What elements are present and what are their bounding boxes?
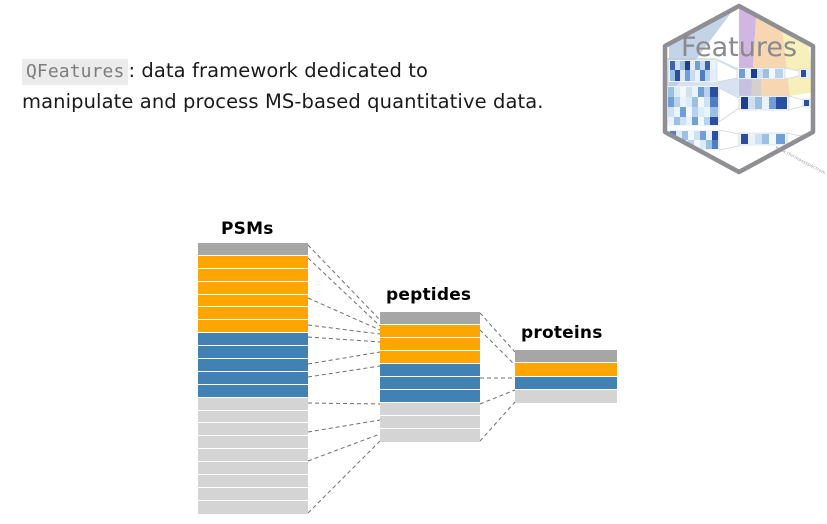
stack-row-gray <box>198 398 308 411</box>
caption-peptides: peptides <box>386 285 471 305</box>
connector-psms-to-peptides <box>308 420 380 432</box>
connector-psms-to-peptides <box>308 434 380 461</box>
connector-psms-to-peptides <box>308 366 380 377</box>
stack-row-blue <box>515 377 617 390</box>
connector-psms-to-peptides <box>308 337 380 342</box>
stack-row-header <box>198 243 308 256</box>
caption-proteins: proteins <box>521 323 603 343</box>
stack-row-blue <box>380 364 480 377</box>
stack-row-gray <box>198 423 308 436</box>
connector-psms-to-peptides <box>308 325 380 334</box>
stack-row-gray <box>198 475 308 488</box>
stack-proteins[interactable] <box>515 350 617 403</box>
aggregation-diagram: PSMspeptidesproteins <box>0 0 827 524</box>
stack-psms[interactable] <box>198 243 308 514</box>
connector-psms-to-peptides <box>308 245 380 320</box>
connector-psms-to-peptides <box>308 258 380 326</box>
stack-row-blue <box>380 377 480 390</box>
stack-row-blue <box>198 372 308 385</box>
stack-row-orange <box>198 269 308 282</box>
stack-row-gray <box>198 449 308 462</box>
stack-row-blue <box>198 359 308 372</box>
stack-row-blue <box>198 333 308 346</box>
stack-row-blue <box>198 385 308 398</box>
caption-psms: PSMs <box>221 219 274 239</box>
stack-row-orange <box>198 282 308 295</box>
stack-row-gray <box>380 403 480 416</box>
stack-row-gray <box>198 488 308 501</box>
connector-lines <box>0 0 827 524</box>
stack-row-orange <box>198 307 308 320</box>
connector-peptides-to-proteins <box>480 313 515 352</box>
stack-row-orange <box>380 351 480 364</box>
stack-row-gray <box>380 429 480 442</box>
stack-row-orange <box>515 363 617 376</box>
stack-row-header <box>515 350 617 363</box>
connector-peptides-to-proteins <box>480 330 515 365</box>
slide-canvas: QFeatures: data framework dedicated to m… <box>0 0 827 524</box>
stack-row-blue <box>198 346 308 359</box>
stack-row-orange <box>198 295 308 308</box>
connector-psms-to-peptides <box>308 441 380 513</box>
connector-peptides-to-proteins <box>480 390 515 404</box>
connector-psms-to-peptides <box>308 298 380 330</box>
connector-psms-to-peptides <box>308 352 380 364</box>
stack-peptides[interactable] <box>380 312 480 442</box>
stack-row-gray <box>198 436 308 449</box>
stack-row-header <box>380 312 480 325</box>
stack-row-gray <box>515 390 617 403</box>
connector-psms-to-peptides <box>308 403 380 404</box>
stack-row-orange <box>380 338 480 351</box>
stack-row-gray <box>380 416 480 429</box>
connector-peptides-to-proteins <box>480 402 515 441</box>
stack-row-gray <box>198 411 308 424</box>
stack-row-orange <box>198 320 308 333</box>
stack-row-gray <box>198 462 308 475</box>
stack-row-orange <box>198 256 308 269</box>
stack-row-gray <box>198 501 308 514</box>
stack-row-blue <box>380 390 480 403</box>
stack-row-orange <box>380 325 480 338</box>
